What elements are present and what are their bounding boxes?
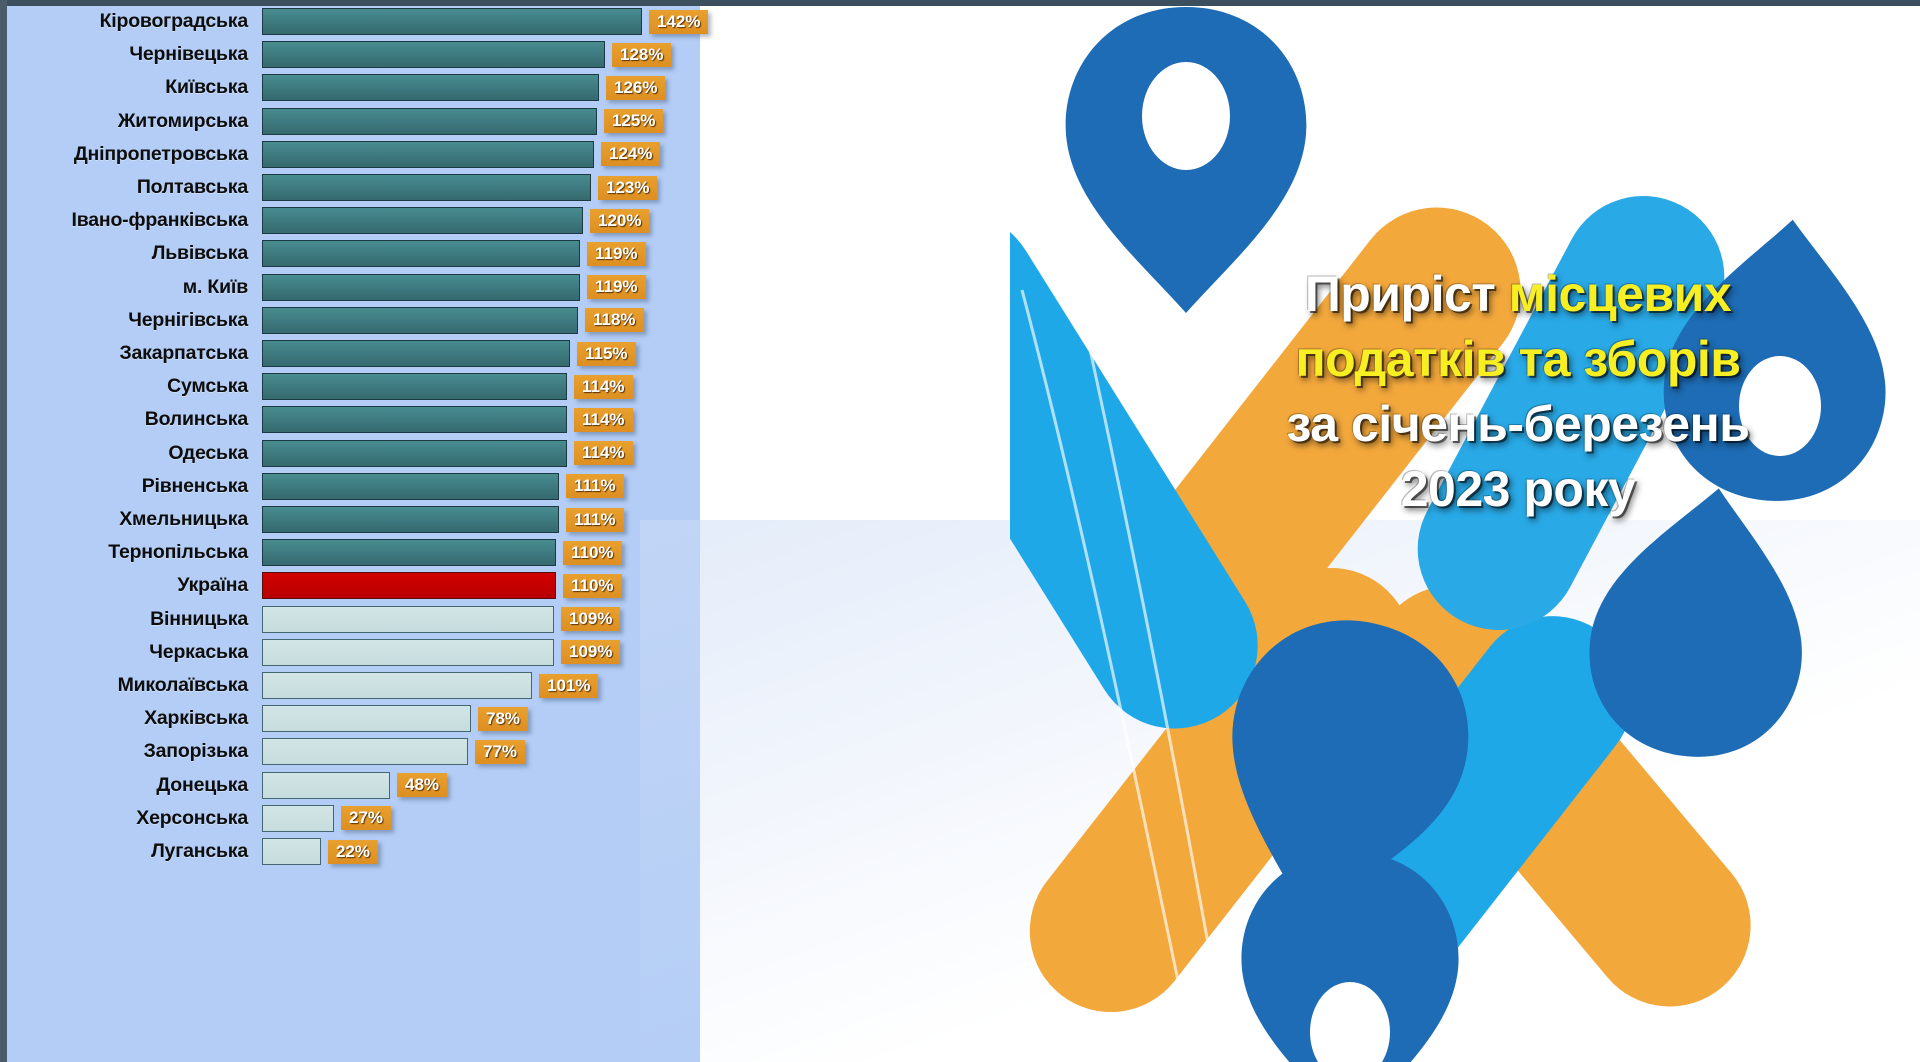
category-label: Запорізька [0,740,262,763]
value-bar [262,8,642,35]
bar-track: 114% [262,437,1010,470]
value-badge: 142% [649,10,708,34]
title-line-4: 2023 року [1168,457,1868,522]
value-badge: 111% [566,474,624,498]
category-label: Кіровоградська [0,10,262,33]
category-label: Львівська [0,242,262,265]
value-badge: 114% [574,441,633,465]
chart-row: Волинська114% [0,403,1010,436]
regions-bar-chart: Кіровоградська142%Чернівецька128%Київськ… [0,0,1010,1062]
chart-row: Дніпропетровська124% [0,138,1010,171]
chart-row: Миколаївська101% [0,669,1010,702]
bar-track: 109% [262,636,1010,669]
value-badge: 128% [612,43,671,67]
bar-track: 111% [262,503,1010,536]
chart-row: Хмельницька111% [0,503,1010,536]
bar-track: 27% [262,802,1010,835]
chart-row: Кіровоградська142% [0,5,1010,38]
category-label: Житомирська [0,110,262,133]
value-bar [262,473,559,500]
value-bar [262,274,580,301]
category-label: Хмельницька [0,508,262,531]
chart-row: Рівненська111% [0,470,1010,503]
value-bar [262,738,468,765]
chart-row: Івано-франківська120% [0,204,1010,237]
bar-track: 111% [262,470,1010,503]
value-bar [262,772,390,799]
title-line-2: податків та зборів [1168,327,1868,392]
chart-row: Чернігівська118% [0,304,1010,337]
value-bar [262,307,578,334]
bar-track: 110% [262,569,1010,602]
category-label: Рівненська [0,475,262,498]
value-badge: 120% [590,209,649,233]
value-bar [262,141,594,168]
value-badge: 119% [587,242,646,266]
bar-track: 124% [262,138,1010,171]
value-badge: 27% [341,806,391,830]
value-bar [262,639,554,666]
value-bar [262,373,567,400]
page-title: Приріст місцевих податків та зборів за с… [1168,262,1868,522]
chart-row: Вінницька109% [0,603,1010,636]
value-bar [262,506,559,533]
value-bar [262,74,599,101]
category-label: м. Київ [0,276,262,299]
value-bar [262,340,570,367]
bar-track: 142% [262,5,1010,38]
category-label: Херсонська [0,807,262,830]
value-badge: 124% [601,142,660,166]
category-label: Черкаська [0,641,262,664]
category-label: Волинська [0,408,262,431]
bar-track: 48% [262,769,1010,802]
title-word-pryrist: Приріст [1305,266,1509,322]
bar-track: 118% [262,304,1010,337]
value-bar [262,240,580,267]
chart-row: Полтавська123% [0,171,1010,204]
chart-row: Черкаська109% [0,636,1010,669]
value-badge: 110% [563,541,622,565]
chart-row: Запорізька77% [0,735,1010,768]
value-bar [262,108,597,135]
value-badge: 48% [397,773,447,797]
bar-track: 123% [262,171,1010,204]
bar-track: 78% [262,702,1010,735]
category-label: Тернопільська [0,541,262,564]
value-badge: 119% [587,275,646,299]
value-bar [262,41,605,68]
value-bar [262,539,556,566]
value-badge: 101% [539,674,598,698]
value-bar [262,672,532,699]
chart-row: Херсонська27% [0,802,1010,835]
infographic-canvas: Приріст місцевих податків та зборів за с… [0,0,1920,1062]
value-badge: 111% [566,508,624,532]
category-label: Івано-франківська [0,209,262,232]
bar-track: 101% [262,669,1010,702]
chart-row: Донецька48% [0,769,1010,802]
title-word-mistsevykh: місцевих [1509,266,1732,322]
category-label: Одеська [0,442,262,465]
category-label: Дніпропетровська [0,143,262,166]
bar-track: 125% [262,105,1010,138]
bar-track: 114% [262,403,1010,436]
bar-track: 109% [262,603,1010,636]
value-badge: 115% [577,342,636,366]
bar-track: 120% [262,204,1010,237]
bar-track: 119% [262,271,1010,304]
value-badge: 125% [604,109,663,133]
bar-track: 128% [262,38,1010,71]
category-label: Чернігівська [0,309,262,332]
bar-track: 110% [262,536,1010,569]
value-bar [262,838,321,865]
bar-track: 77% [262,735,1010,768]
value-badge: 114% [574,408,633,432]
diia-style-logo [1010,0,1920,1062]
category-label: Закарпатська [0,342,262,365]
chart-row: Київська126% [0,71,1010,104]
chart-row: Луганська22% [0,835,1010,868]
category-label: Вінницька [0,608,262,631]
chart-row: Тернопільська110% [0,536,1010,569]
value-bar [262,606,554,633]
value-badge: 123% [598,176,657,200]
category-label: Харківська [0,707,262,730]
category-label: Київська [0,76,262,99]
value-bar [262,440,567,467]
value-badge: 114% [574,375,633,399]
bar-track: 114% [262,370,1010,403]
title-line-1: Приріст місцевих [1168,262,1868,327]
value-badge: 78% [478,707,528,731]
value-badge: 109% [561,640,620,664]
value-bar [262,705,471,732]
bar-track: 126% [262,71,1010,104]
category-label: Луганська [0,840,262,863]
category-label: Миколаївська [0,674,262,697]
category-label: Сумська [0,375,262,398]
chart-row: Житомирська125% [0,105,1010,138]
value-badge: 22% [328,840,378,864]
category-label: Полтавська [0,176,262,199]
value-bar [262,572,556,599]
bar-track: 115% [262,337,1010,370]
left-frame-strip [0,0,7,1062]
chart-row: Харківська78% [0,702,1010,735]
chart-row: Львівська119% [0,237,1010,270]
bar-track: 22% [262,835,1010,868]
category-label: Чернівецька [0,43,262,66]
value-badge: 110% [563,574,622,598]
category-label: Донецька [0,774,262,797]
value-badge: 118% [585,308,644,332]
value-bar [262,174,591,201]
chart-row: Закарпатська115% [0,337,1010,370]
top-frame-strip [0,0,1920,6]
bar-track: 119% [262,237,1010,270]
chart-row: Сумська114% [0,370,1010,403]
title-line-3: за січень-березень [1168,392,1868,457]
value-bar [262,207,583,234]
chart-row: м. Київ119% [0,271,1010,304]
value-badge: 126% [606,76,665,100]
chart-row: Україна110% [0,569,1010,602]
value-badge: 109% [561,607,620,631]
category-label: Україна [0,574,262,597]
value-badge: 77% [475,740,525,764]
chart-row: Чернівецька128% [0,38,1010,71]
chart-row: Одеська114% [0,437,1010,470]
value-bar [262,406,567,433]
value-bar [262,805,334,832]
